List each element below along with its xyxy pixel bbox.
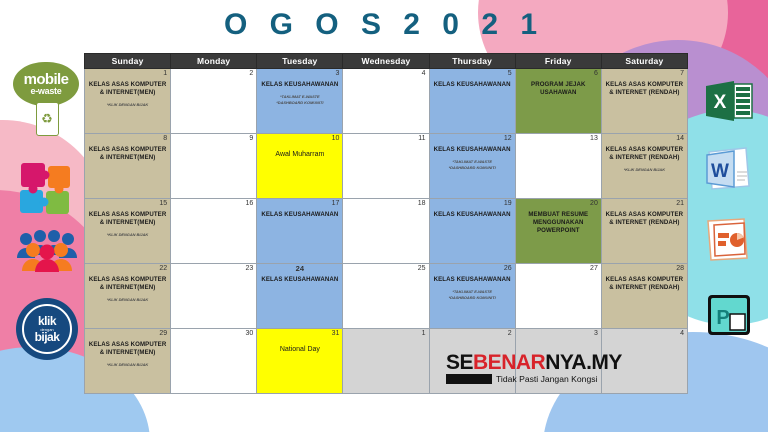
sebenarnya-bar [446,374,492,384]
klik-dengan-bijak-logo: klik dengan bijak [16,298,78,360]
sebenarnya-tagline-row: Tidak Pasti Jangan Kongsi [446,374,608,384]
calendar-day-cell[interactable]: 12KELAS KEUSAHAWANAN*TAKLIMAT E-WASTE*DA… [429,134,515,199]
community-people-icon [16,228,78,272]
svg-text:X: X [714,92,727,113]
sebenarnya-wordmark: SEBENARNYA.MY [446,352,608,373]
event-note: *KLIK DENGAN BIJAK [88,297,167,303]
event-note: *DASHBOARD KOMUNITI [433,165,512,171]
calendar-day-cell[interactable]: 26KELAS KEUSAHAWANAN*TAKLIMAT E-WASTE*DA… [429,264,515,329]
calendar-day-cell[interactable]: 27 [515,264,601,329]
day-number: 4 [605,330,684,338]
calendar-day-cell[interactable]: 18 [343,199,429,264]
calendar-day-cell[interactable]: 25 [343,264,429,329]
calendar-day-cell[interactable]: 19KELAS KEUSAHAWANAN [429,199,515,264]
calendar-week-row: 1KELAS ASAS KOMPUTER & INTERNET(MEN)*KLI… [85,69,688,134]
day-number: 25 [346,265,425,273]
day-number: 5 [433,70,512,78]
event-note: *KLIK DENGAN BIJAK [88,362,167,368]
event-notes: *KLIK DENGAN BIJAK [605,167,684,173]
day-number: 12 [433,135,512,143]
weekday-header-saturday: Saturday [601,54,687,69]
day-number: 26 [433,265,512,273]
day-number: 13 [519,135,598,143]
event-label: KELAS ASAS KOMPUTER & INTERNET(MEN) [88,146,167,162]
calendar-week-row: 15KELAS ASAS KOMPUTER & INTERNET(MEN)*KL… [85,199,688,264]
weekday-header-monday: Monday [171,54,257,69]
calendar-day-cell[interactable]: 15KELAS ASAS KOMPUTER & INTERNET(MEN)*KL… [85,199,171,264]
day-number: 10 [260,135,339,143]
calendar-day-cell[interactable]: 28KELAS ASAS KOMPUTER & INTERNET (RENDAH… [601,264,687,329]
day-number: 29 [88,330,167,338]
sebenarnya-tagline: Tidak Pasti Jangan Kongsi [496,374,597,384]
event-label: PROGRAM JEJAK USAHAWAN [519,81,598,97]
calendar-day-cell[interactable]: 4 [343,69,429,134]
day-number: 16 [174,200,253,208]
calendar-day-cell[interactable]: 5KELAS KEUSAHAWANAN [429,69,515,134]
page-title: O G O S 2 0 2 1 [0,8,768,42]
ewaste-bubble: mobile e-waste [13,62,79,106]
event-label: KELAS ASAS KOMPUTER & INTERNET(MEN) [88,81,167,97]
calendar-day-cell[interactable]: 11 [343,134,429,199]
powerpoint-icon [704,216,754,262]
event-label: KELAS KEUSAHAWANAN [260,81,339,89]
calendar-day-cell[interactable]: 6PROGRAM JEJAK USAHAWAN [515,69,601,134]
calendar-day-cell[interactable]: 22KELAS ASAS KOMPUTER & INTERNET(MEN)*KL… [85,264,171,329]
calendar-day-cell[interactable]: 1KELAS ASAS KOMPUTER & INTERNET(MEN)*KLI… [85,69,171,134]
ewaste-line2: e-waste [31,87,62,96]
svg-text:W: W [711,161,729,182]
calendar-day-cell[interactable]: 1 [343,329,429,394]
weekday-header-wednesday: Wednesday [343,54,429,69]
event-note: *KLIK DENGAN BIJAK [88,232,167,238]
excel-icon: X [704,78,754,124]
weekday-header-tuesday: Tuesday [257,54,343,69]
calendar-header-row: SundayMondayTuesdayWednesdayThursdayFrid… [85,54,688,69]
event-notes: *TAKLIMAT E-WASTE*DASHBOARD KOMUNITI [433,289,512,300]
day-number: 19 [433,200,512,208]
phone-recycle-icon: ♻ [36,102,59,136]
ewaste-line1: mobile [24,73,69,87]
day-number: 24 [260,265,339,273]
day-number: 23 [174,265,253,273]
day-number: 14 [605,135,684,143]
day-number: 28 [605,265,684,273]
day-number: 31 [260,330,339,338]
calendar-day-cell[interactable]: 8KELAS ASAS KOMPUTER & INTERNET(MEN) [85,134,171,199]
weekday-header-thursday: Thursday [429,54,515,69]
calendar-day-cell[interactable]: 24KELAS KEUSAHAWANAN [257,264,343,329]
day-number: 11 [346,135,425,143]
event-notes: *KLIK DENGAN BIJAK [88,297,167,303]
holiday-label: Awal Muharram [260,150,339,159]
event-note: *DASHBOARD KOMUNITI [260,100,339,106]
day-number: 3 [260,70,339,78]
day-number: 3 [519,330,598,338]
event-label: MEMBUAT RESUME MENGGUNAKAN POWERPOINT [519,211,598,236]
sebenarnya-logo: SEBENARNYA.MY Tidak Pasti Jangan Kongsi [446,352,608,384]
event-notes: *TAKLIMAT E-WASTE*DASHBOARD KOMUNITI [260,94,339,105]
day-number: 7 [605,70,684,78]
day-number: 8 [88,135,167,143]
day-number: 1 [88,70,167,78]
event-label: KELAS KEUSAHAWANAN [433,211,512,219]
mobile-ewaste-logo: mobile e-waste ♻ [13,62,81,148]
event-label: KELAS ASAS KOMPUTER & INTERNET(MEN) [88,211,167,227]
day-number: 1 [346,330,425,338]
svg-text:P: P [716,307,729,329]
calendar-day-cell[interactable]: 17KELAS KEUSAHAWANAN [257,199,343,264]
calendar-day-cell[interactable]: 29KELAS ASAS KOMPUTER & INTERNET(MEN)*KL… [85,329,171,394]
day-number: 2 [174,70,253,78]
calendar-day-cell[interactable]: 23 [171,264,257,329]
calendar-day-cell[interactable]: 3KELAS KEUSAHAWANAN*TAKLIMAT E-WASTE*DAS… [257,69,343,134]
calendar-day-cell[interactable]: 7KELAS ASAS KOMPUTER & INTERNET (RENDAH) [601,69,687,134]
day-number: 20 [519,200,598,208]
day-number: 27 [519,265,598,273]
klik-line1: klik [38,316,56,327]
day-number: 15 [88,200,167,208]
weekday-header-friday: Friday [515,54,601,69]
event-label: KELAS KEUSAHAWANAN [433,146,512,154]
calendar-day-cell[interactable]: 2 [171,69,257,134]
event-label: KELAS ASAS KOMPUTER & INTERNET (RENDAH) [605,146,684,162]
puzzle-pieces-icon [18,160,76,218]
day-number: 17 [260,200,339,208]
calendar-day-cell[interactable]: 14KELAS ASAS KOMPUTER & INTERNET (RENDAH… [601,134,687,199]
day-number: 22 [88,265,167,273]
klik-inner-circle: klik dengan bijak [22,304,72,354]
weekday-header-sunday: Sunday [85,54,171,69]
event-notes: *KLIK DENGAN BIJAK [88,102,167,108]
day-number: 4 [346,70,425,78]
event-label: KELAS KEUSAHAWANAN [433,81,512,89]
calendar-day-cell[interactable]: 30 [171,329,257,394]
calendar-week-row: 8KELAS ASAS KOMPUTER & INTERNET(MEN)910A… [85,134,688,199]
event-label: KELAS ASAS KOMPUTER & INTERNET (RENDAH) [605,211,684,227]
word-icon: W [704,146,754,192]
holiday-label: National Day [260,345,339,354]
event-label: KELAS KEUSAHAWANAN [260,211,339,219]
event-label: KELAS KEUSAHAWANAN [433,276,512,284]
event-notes: *TAKLIMAT E-WASTE*DASHBOARD KOMUNITI [433,159,512,170]
day-number: 2 [433,330,512,338]
event-note: *KLIK DENGAN BIJAK [605,167,684,173]
event-notes: *KLIK DENGAN BIJAK [88,232,167,238]
publisher-icon: P [704,292,754,338]
calendar-day-cell[interactable]: 31National Day [257,329,343,394]
sebenarnya-part3: NYA.MY [545,351,622,374]
event-label: KELAS ASAS KOMPUTER & INTERNET (RENDAH) [605,81,684,97]
calendar-table: SundayMondayTuesdayWednesdayThursdayFrid… [84,53,688,394]
event-note: *DASHBOARD KOMUNITI [433,295,512,301]
event-label: KELAS ASAS KOMPUTER & INTERNET (RENDAH) [605,276,684,292]
event-label: KELAS ASAS KOMPUTER & INTERNET(MEN) [88,341,167,357]
calendar-week-row: 22KELAS ASAS KOMPUTER & INTERNET(MEN)*KL… [85,264,688,329]
event-note: *KLIK DENGAN BIJAK [88,102,167,108]
calendar-page: O G O S 2 0 2 1 SundayMondayTuesdayWedne… [0,0,768,432]
sebenarnya-part2: BENAR [473,351,545,374]
day-number: 21 [605,200,684,208]
event-label: KELAS ASAS KOMPUTER & INTERNET(MEN) [88,276,167,292]
event-notes: *KLIK DENGAN BIJAK [88,362,167,368]
calendar-day-cell[interactable]: 10Awal Muharram [257,134,343,199]
klik-line3: bijak [35,332,60,343]
day-number: 6 [519,70,598,78]
calendar-day-cell[interactable]: 9 [171,134,257,199]
event-label: KELAS KEUSAHAWANAN [260,276,339,284]
sebenarnya-part1: SE [446,351,473,374]
day-number: 9 [174,135,253,143]
calendar-day-cell[interactable]: 16 [171,199,257,264]
calendar-day-cell[interactable]: 20MEMBUAT RESUME MENGGUNAKAN POWERPOINT [515,199,601,264]
calendar-day-cell[interactable]: 13 [515,134,601,199]
calendar-day-cell[interactable]: 21KELAS ASAS KOMPUTER & INTERNET (RENDAH… [601,199,687,264]
day-number: 30 [174,330,253,338]
day-number: 18 [346,200,425,208]
